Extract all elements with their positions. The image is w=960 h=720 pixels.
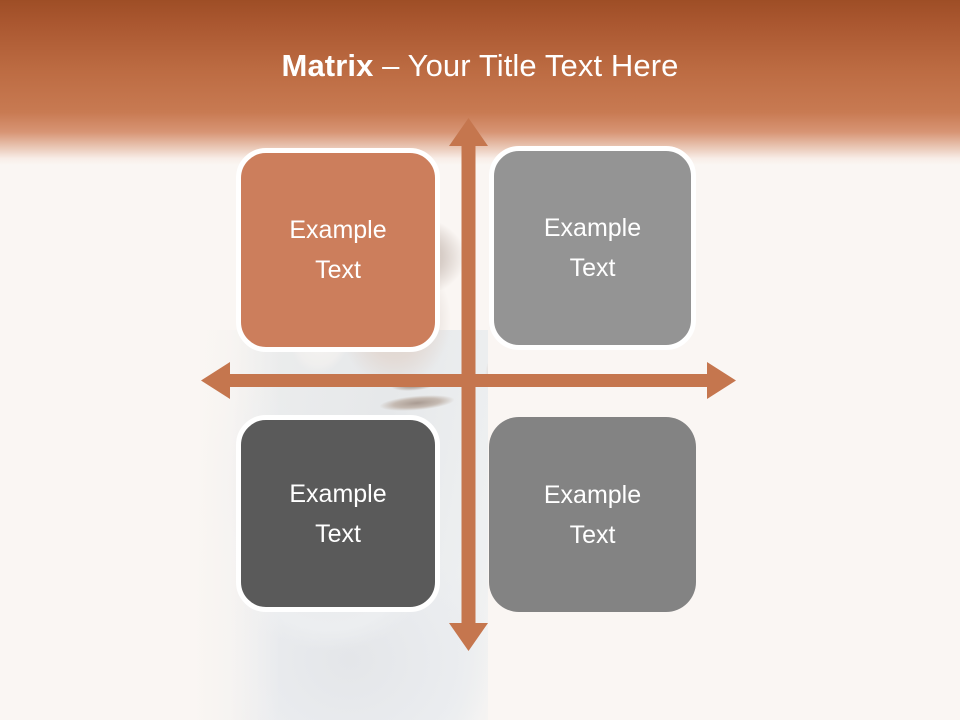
quadrant-label-bottom-left: Example Text: [289, 474, 386, 554]
quadrant-box-top-right[interactable]: Example Text: [489, 146, 696, 350]
page-title: Matrix – Your Title Text Here: [0, 47, 960, 85]
quadrant-label-line2: Text: [544, 515, 641, 555]
quadrant-label-line2: Text: [544, 248, 641, 288]
quadrant-box-bottom-left[interactable]: Example Text: [236, 415, 440, 612]
horizontal-double-arrow: [196, 359, 741, 403]
quadrant-box-bottom-right[interactable]: Example Text: [489, 417, 696, 612]
quadrant-label-line1: Example: [289, 474, 386, 514]
slide-canvas: Matrix – Your Title Text Here Example Te…: [0, 0, 960, 720]
quadrant-label-line2: Text: [289, 514, 386, 554]
quadrant-label-line1: Example: [544, 475, 641, 515]
quadrant-label-line1: Example: [289, 210, 386, 250]
horizontal-arrow-shape: [201, 362, 736, 399]
quadrant-label-line1: Example: [544, 208, 641, 248]
page-title-rest: – Your Title Text Here: [373, 48, 678, 83]
quadrant-label-line2: Text: [289, 250, 386, 290]
quadrant-label-bottom-right: Example Text: [544, 475, 641, 555]
quadrant-label-top-right: Example Text: [544, 208, 641, 288]
page-title-strong: Matrix: [282, 48, 374, 83]
quadrant-label-top-left: Example Text: [289, 210, 386, 290]
quadrant-box-top-left[interactable]: Example Text: [236, 148, 440, 352]
